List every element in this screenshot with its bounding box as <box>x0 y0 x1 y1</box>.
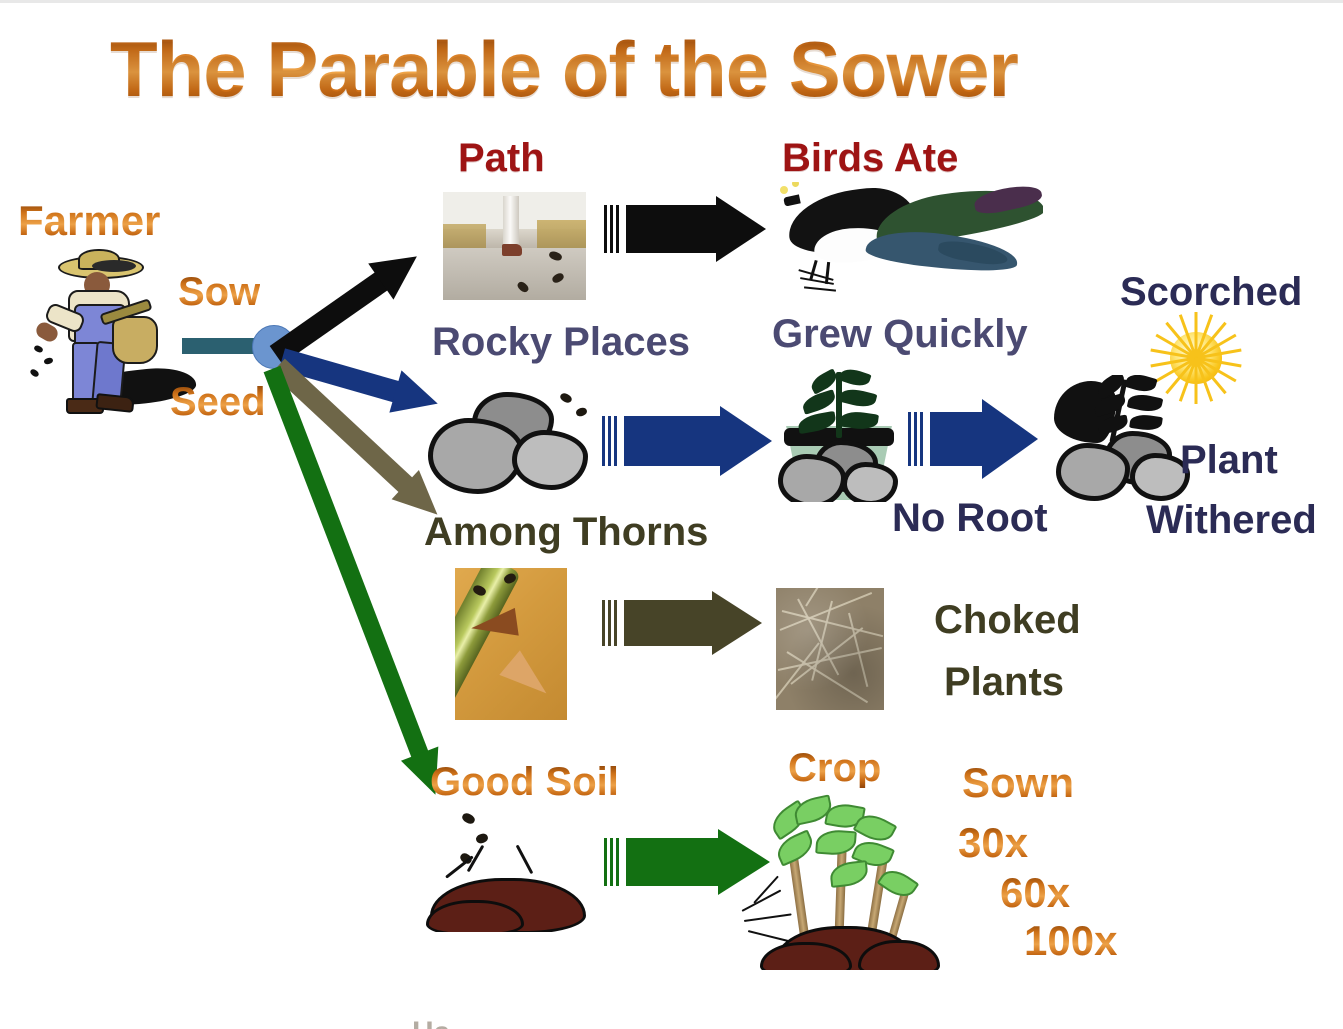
gravel-path-with-seeds-photo <box>443 192 586 300</box>
yield-60x: 60x <box>1000 872 1070 914</box>
good-soil-label: Good Soil <box>430 762 619 802</box>
plant-label: Plant <box>1180 440 1278 480</box>
striped-arrow-navy <box>602 416 774 466</box>
dark-soil-mound-icon <box>420 812 600 932</box>
crop-label: Crop <box>788 748 881 788</box>
birds-ate-label: Birds Ate <box>782 138 958 178</box>
rocky-places-label: Rocky Places <box>432 322 690 362</box>
yield-100x: 100x <box>1024 920 1117 962</box>
growing-crop-plants-icon <box>730 790 950 970</box>
plants-label: Plants <box>944 662 1064 702</box>
striped-arrow-navy-2 <box>908 412 1040 466</box>
choked-label: Choked <box>934 600 1081 640</box>
seed-label: Seed <box>170 382 266 422</box>
seedling-in-pot-icon <box>770 366 910 502</box>
infographic-canvas: The Parable of the Sower Farmer Sow Seed <box>0 0 1343 1029</box>
thorn-stem-photo <box>455 568 567 720</box>
gray-rocks-icon <box>428 392 598 492</box>
top-divider <box>0 0 1343 3</box>
scorched-label: Scorched <box>1120 272 1302 312</box>
grew-quickly-label: Grew Quickly <box>772 314 1028 354</box>
page-title: The Parable of the Sower <box>110 30 1018 108</box>
clipped-bottom-text: Ha <box>412 1018 472 1029</box>
path-label: Path <box>458 138 545 178</box>
sown-label: Sown <box>962 762 1074 804</box>
magpie-bird-icon <box>778 182 1043 302</box>
striped-arrow-black <box>604 205 764 253</box>
striped-arrow-olive <box>602 600 762 646</box>
withered-label: Withered <box>1146 500 1317 540</box>
diagonal-arrow-black <box>270 248 422 364</box>
no-root-label: No Root <box>892 498 1048 538</box>
dry-thorn-thicket-photo <box>776 588 884 710</box>
sow-label: Sow <box>178 272 260 312</box>
farmer-label: Farmer <box>18 200 160 242</box>
yield-30x: 30x <box>958 822 1028 864</box>
among-thorns-label: Among Thorns <box>424 512 708 552</box>
